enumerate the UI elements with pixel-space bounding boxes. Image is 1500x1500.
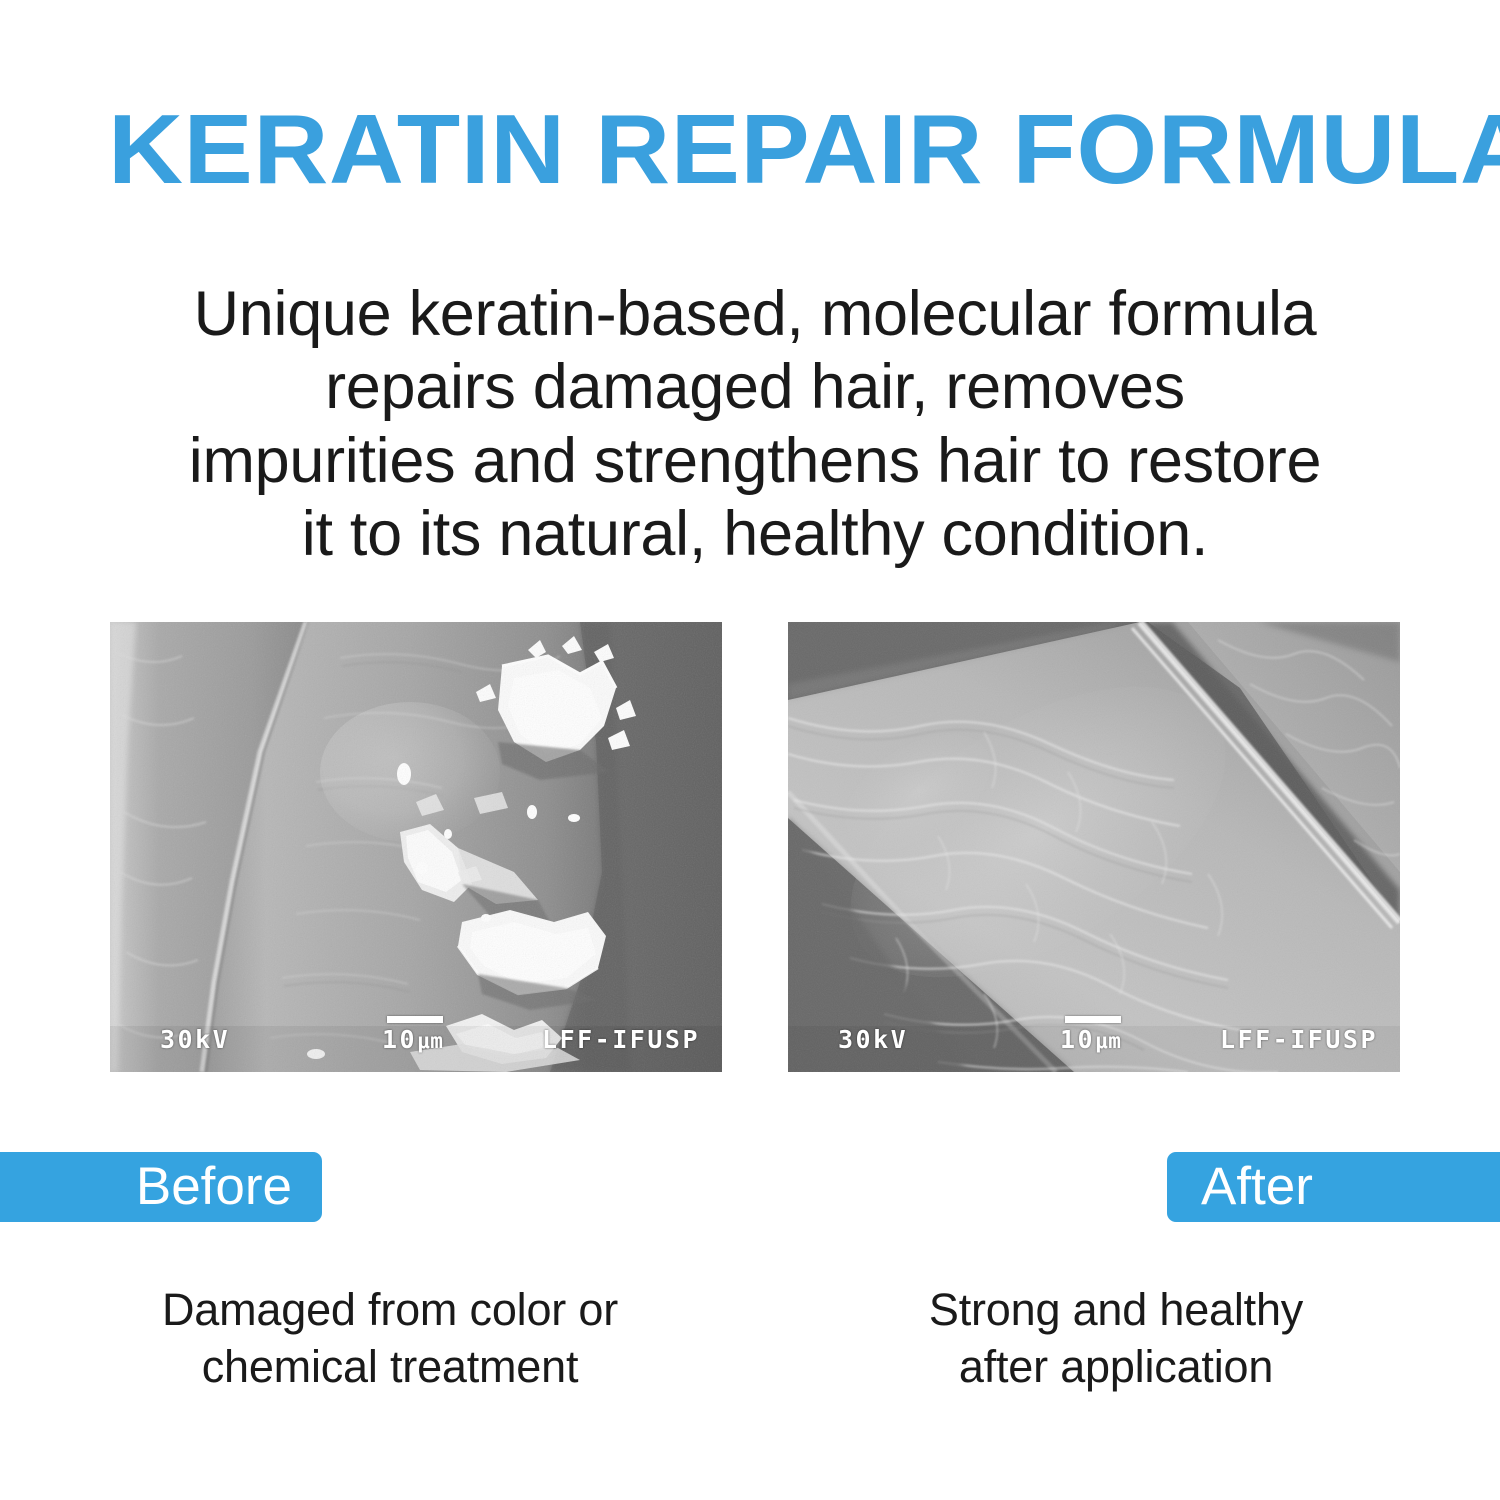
after-micrograph-graphic	[788, 622, 1400, 1072]
description-line: repairs damaged hair, removes	[110, 351, 1400, 424]
after-sem-micrograph: 30kV 10μm LFF-IFUSP	[788, 622, 1400, 1072]
after-caption-line: after application	[810, 1339, 1422, 1396]
page-title: KERATIN REPAIR FORMULA	[108, 100, 1475, 198]
description-paragraph: Unique keratin-based, molecular formula …	[110, 278, 1400, 572]
after-caption-line: Strong and healthy	[810, 1282, 1422, 1339]
description-line: impurities and strengthens hair to resto…	[110, 425, 1400, 498]
description-line: it to its natural, healthy condition.	[110, 498, 1400, 571]
before-banner: Before	[0, 1152, 322, 1222]
description-line: Unique keratin-based, molecular formula	[110, 278, 1400, 351]
before-micrograph-graphic	[110, 622, 722, 1072]
before-caption: Damaged from color or chemical treatment	[84, 1282, 696, 1395]
before-caption-line: chemical treatment	[84, 1339, 696, 1396]
after-banner: After	[1167, 1152, 1500, 1222]
after-caption: Strong and healthy after application	[810, 1282, 1422, 1395]
before-caption-line: Damaged from color or	[84, 1282, 696, 1339]
before-sem-micrograph: 30kV 10μm LFF-IFUSP	[110, 622, 722, 1072]
